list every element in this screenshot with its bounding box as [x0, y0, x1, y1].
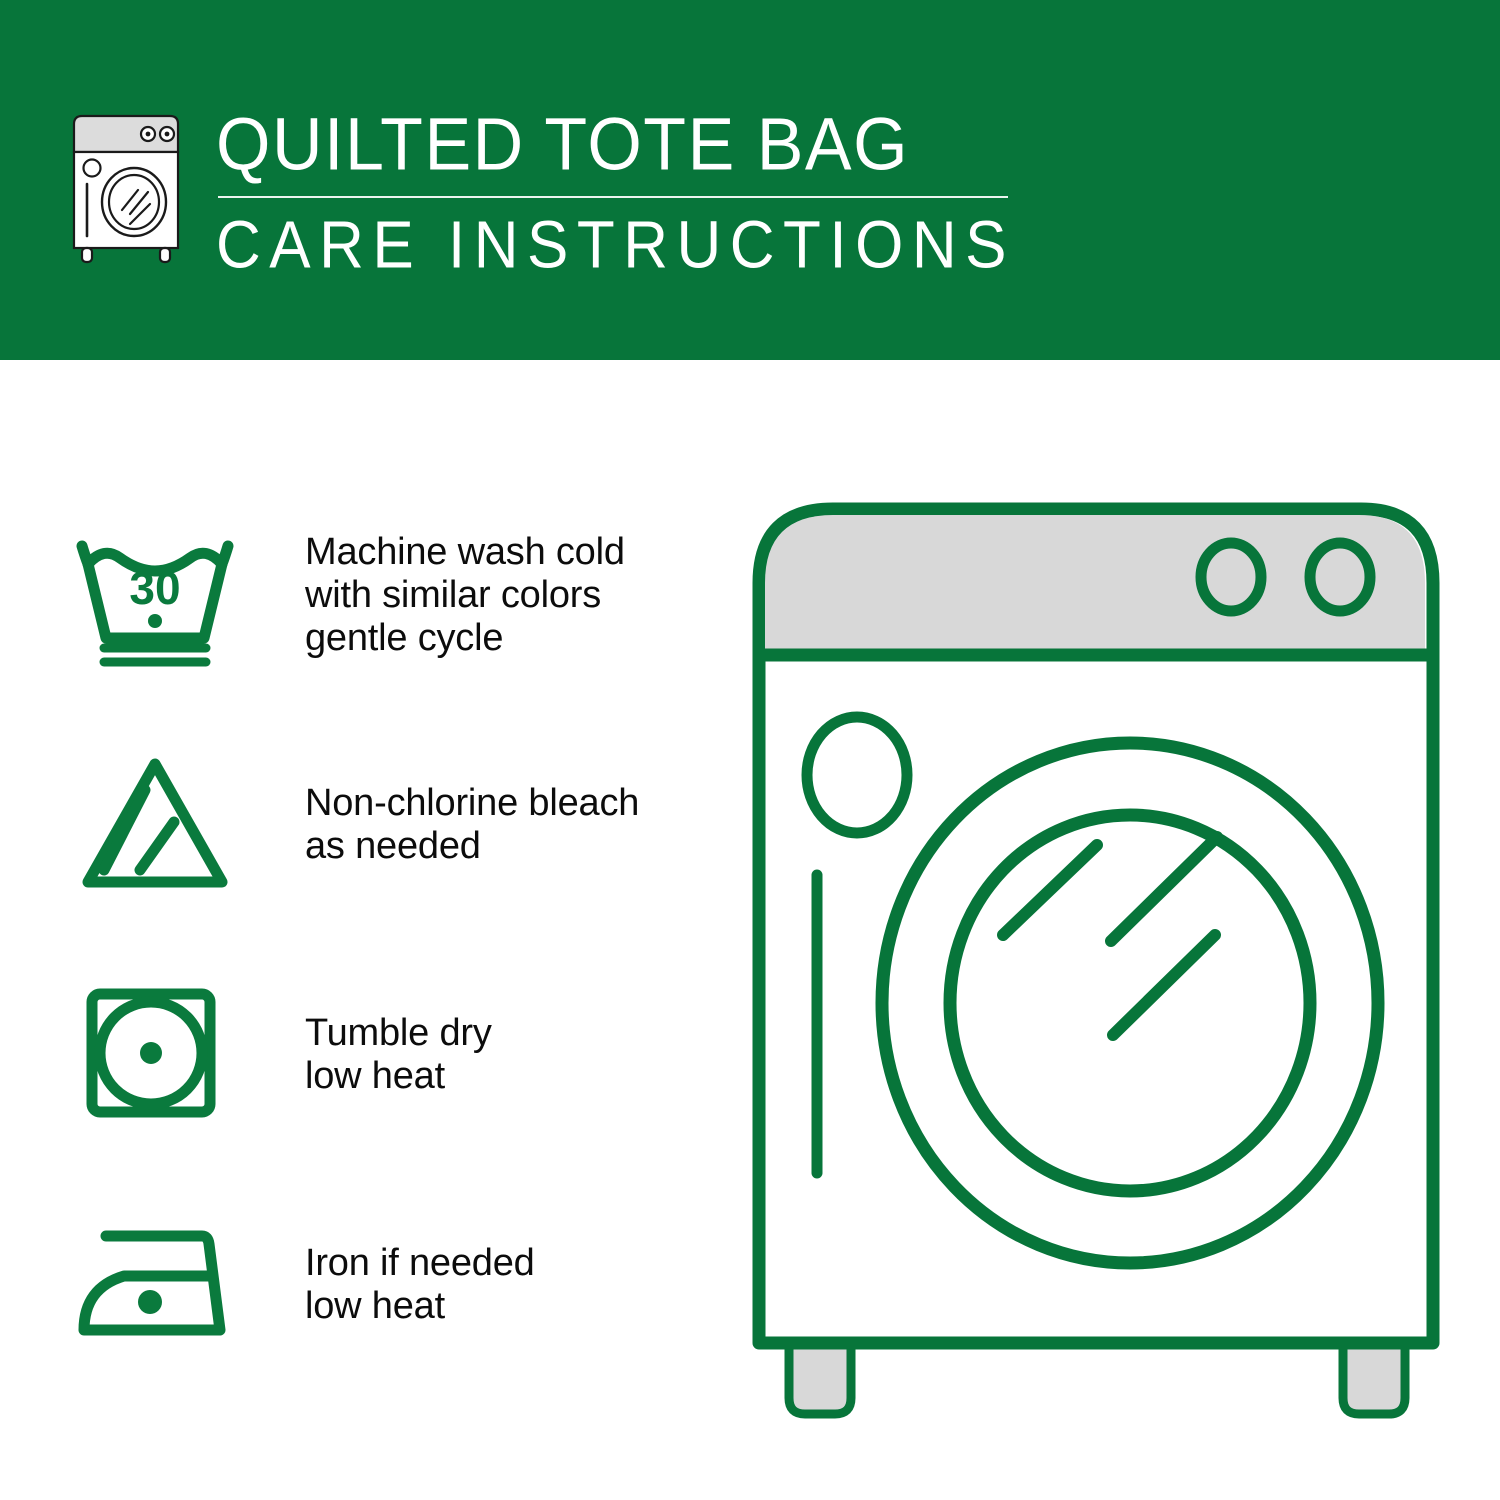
title-divider: [218, 196, 1008, 198]
tumble-dry-dot-icon: [140, 1042, 162, 1064]
care-instruction-list: 30 Machine wash cold with similar colors…: [70, 500, 710, 1380]
iron-low-heat-icon: [70, 1220, 240, 1350]
care-label-iron: Iron if needed low heat: [305, 1242, 535, 1328]
care-row-machine-wash: 30 Machine wash cold with similar colors…: [70, 500, 710, 690]
page-title: QUILTED TOTE BAG: [216, 104, 1016, 185]
wash-temperature-label: 30: [129, 562, 180, 614]
care-row-iron: Iron if needed low heat: [70, 1190, 710, 1380]
front-load-washing-machine-illustration: [745, 495, 1445, 1425]
header-titles: QUILTED TOTE BAG CARE INSTRUCTIONS: [216, 100, 1016, 278]
header-content: QUILTED TOTE BAG CARE INSTRUCTIONS: [62, 100, 1016, 278]
care-row-bleach: Non-chlorine bleach as needed: [70, 730, 710, 920]
machine-wash-symbol: 30: [70, 520, 245, 670]
washing-machine-icon: [62, 110, 190, 270]
machine-legs: [789, 1340, 1405, 1414]
care-label-bleach: Non-chlorine bleach as needed: [305, 782, 639, 868]
wash-dot-icon: [148, 614, 162, 628]
header-banner: QUILTED TOTE BAG CARE INSTRUCTIONS: [0, 0, 1500, 360]
knob-right-icon[interactable]: [1310, 543, 1370, 611]
care-row-tumble-dry: Tumble dry low heat: [70, 960, 710, 1150]
care-label-tumble-dry: Tumble dry low heat: [305, 1012, 492, 1098]
knob-left-icon[interactable]: [1201, 543, 1261, 611]
machine-wash-30-gentle-icon: 30: [70, 520, 240, 670]
bleach-symbol: [70, 750, 245, 900]
iron-symbol: [70, 1220, 245, 1350]
iron-dot-icon: [138, 1290, 162, 1314]
tumble-dry-low-icon: [70, 980, 240, 1130]
detergent-dispenser-icon: [807, 717, 907, 833]
care-label-machine-wash: Machine wash cold with similar colors ge…: [305, 531, 625, 660]
page-subtitle: CARE INSTRUCTIONS: [216, 208, 1016, 284]
non-chlorine-bleach-icon: [70, 750, 240, 900]
door-inner-ring: [950, 815, 1310, 1191]
tumble-dry-symbol: [70, 980, 245, 1130]
